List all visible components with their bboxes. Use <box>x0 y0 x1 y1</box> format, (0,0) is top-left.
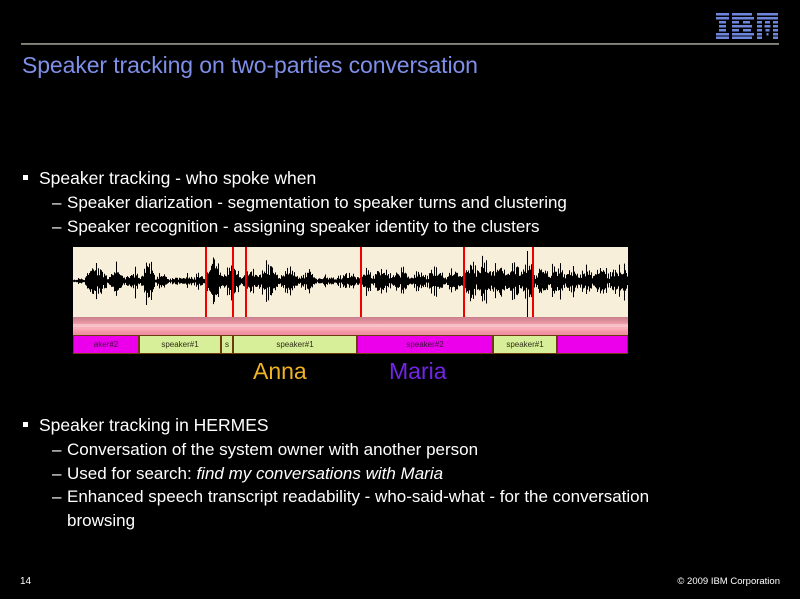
bullet-level1-text: Speaker tracking - who spoke when <box>39 168 316 188</box>
speaker-segment-bar[interactable]: aker#2 speaker#1 s speaker#1 speaker#2 s… <box>73 335 628 354</box>
bullet-level2: – Used for search: find my conversations… <box>20 462 780 486</box>
ibm-logo-icon <box>716 13 778 39</box>
segment-speaker1[interactable]: speaker#1 <box>139 335 221 354</box>
segment-boundary-marker <box>463 247 465 317</box>
segment-boundary-marker <box>232 247 234 317</box>
bullet-level1: Speaker tracking in HERMES <box>20 413 780 437</box>
speaker-name-labels: Anna Maria <box>73 355 628 389</box>
dash-bullet-icon: – <box>52 462 61 486</box>
speaker-diarization-figure: {} aker#2 speaker#1 s s <box>73 247 628 354</box>
bullet-level2-text: Speaker recognition - assigning speaker … <box>67 217 539 236</box>
bullet-level1-text: Speaker tracking in HERMES <box>39 415 269 435</box>
content-block-speaker-tracking: Speaker tracking - who spoke when – Spea… <box>20 166 780 238</box>
bullet-level2: – Enhanced speech transcript readability… <box>20 485 780 509</box>
segment-label: speaker#1 <box>276 341 313 349</box>
page-title: Speaker tracking on two-parties conversa… <box>22 50 478 80</box>
dash-bullet-icon: – <box>52 485 61 509</box>
square-bullet-icon <box>23 175 28 180</box>
dash-bullet-icon: – <box>52 215 61 239</box>
segment-boundary-marker <box>245 247 247 317</box>
segment-label: speaker#1 <box>506 341 543 349</box>
segment-speaker1[interactable]: speaker#1 <box>233 335 357 354</box>
dash-bullet-icon: – <box>52 438 61 462</box>
bullet-level2: – Conversation of the system owner with … <box>20 438 780 462</box>
segment-label: speaker#1 <box>161 341 198 349</box>
page-number: 14 <box>20 576 31 587</box>
bullet-level2-wrap: browsing <box>20 509 780 533</box>
segment-label: speaker#2 <box>406 341 443 349</box>
header-divider <box>21 43 779 45</box>
timeline-band <box>73 317 628 335</box>
slide: Speaker tracking on two-parties conversa… <box>0 0 800 599</box>
segment-speaker1-short[interactable]: s <box>221 335 233 354</box>
segment-speaker2[interactable]: aker#2 <box>73 335 139 354</box>
bullet-level2-text: Conversation of the system owner with an… <box>67 440 478 459</box>
segment-boundary-marker <box>360 247 362 317</box>
segment-label: s <box>225 341 229 349</box>
bullet-level1: Speaker tracking - who spoke when <box>20 166 780 190</box>
speaker-name-anna: Anna <box>253 355 307 387</box>
square-bullet-icon <box>23 422 28 427</box>
search-query-example: find my conversations with Maria <box>196 464 443 483</box>
segment-boundary-marker <box>205 247 207 317</box>
dash-bullet-icon: – <box>52 191 61 215</box>
bullet-level2: – Speaker recognition - assigning speake… <box>20 215 780 239</box>
bullet-level2-text: Enhanced speech transcript readability -… <box>67 487 649 506</box>
bullet-level2: – Speaker diarization - segmentation to … <box>20 191 780 215</box>
timeline-highlight <box>73 324 628 327</box>
segment-boundary-marker <box>532 247 534 317</box>
speaker-name-maria: Maria <box>389 355 447 387</box>
content-block-hermes: Speaker tracking in HERMES – Conversatio… <box>20 413 780 532</box>
segment-speaker1[interactable]: speaker#1 <box>493 335 557 354</box>
copyright-notice: © 2009 IBM Corporation <box>677 576 780 587</box>
segment-label: aker#2 <box>94 341 118 349</box>
bullet-level2-text-label: Used for search: <box>67 464 196 483</box>
segment-speaker2[interactable] <box>557 335 628 354</box>
segment-speaker2[interactable]: speaker#2 <box>357 335 493 354</box>
bullet-level2-text: Speaker diarization - segmentation to sp… <box>67 193 567 212</box>
audio-waveform: {} <box>73 247 628 317</box>
